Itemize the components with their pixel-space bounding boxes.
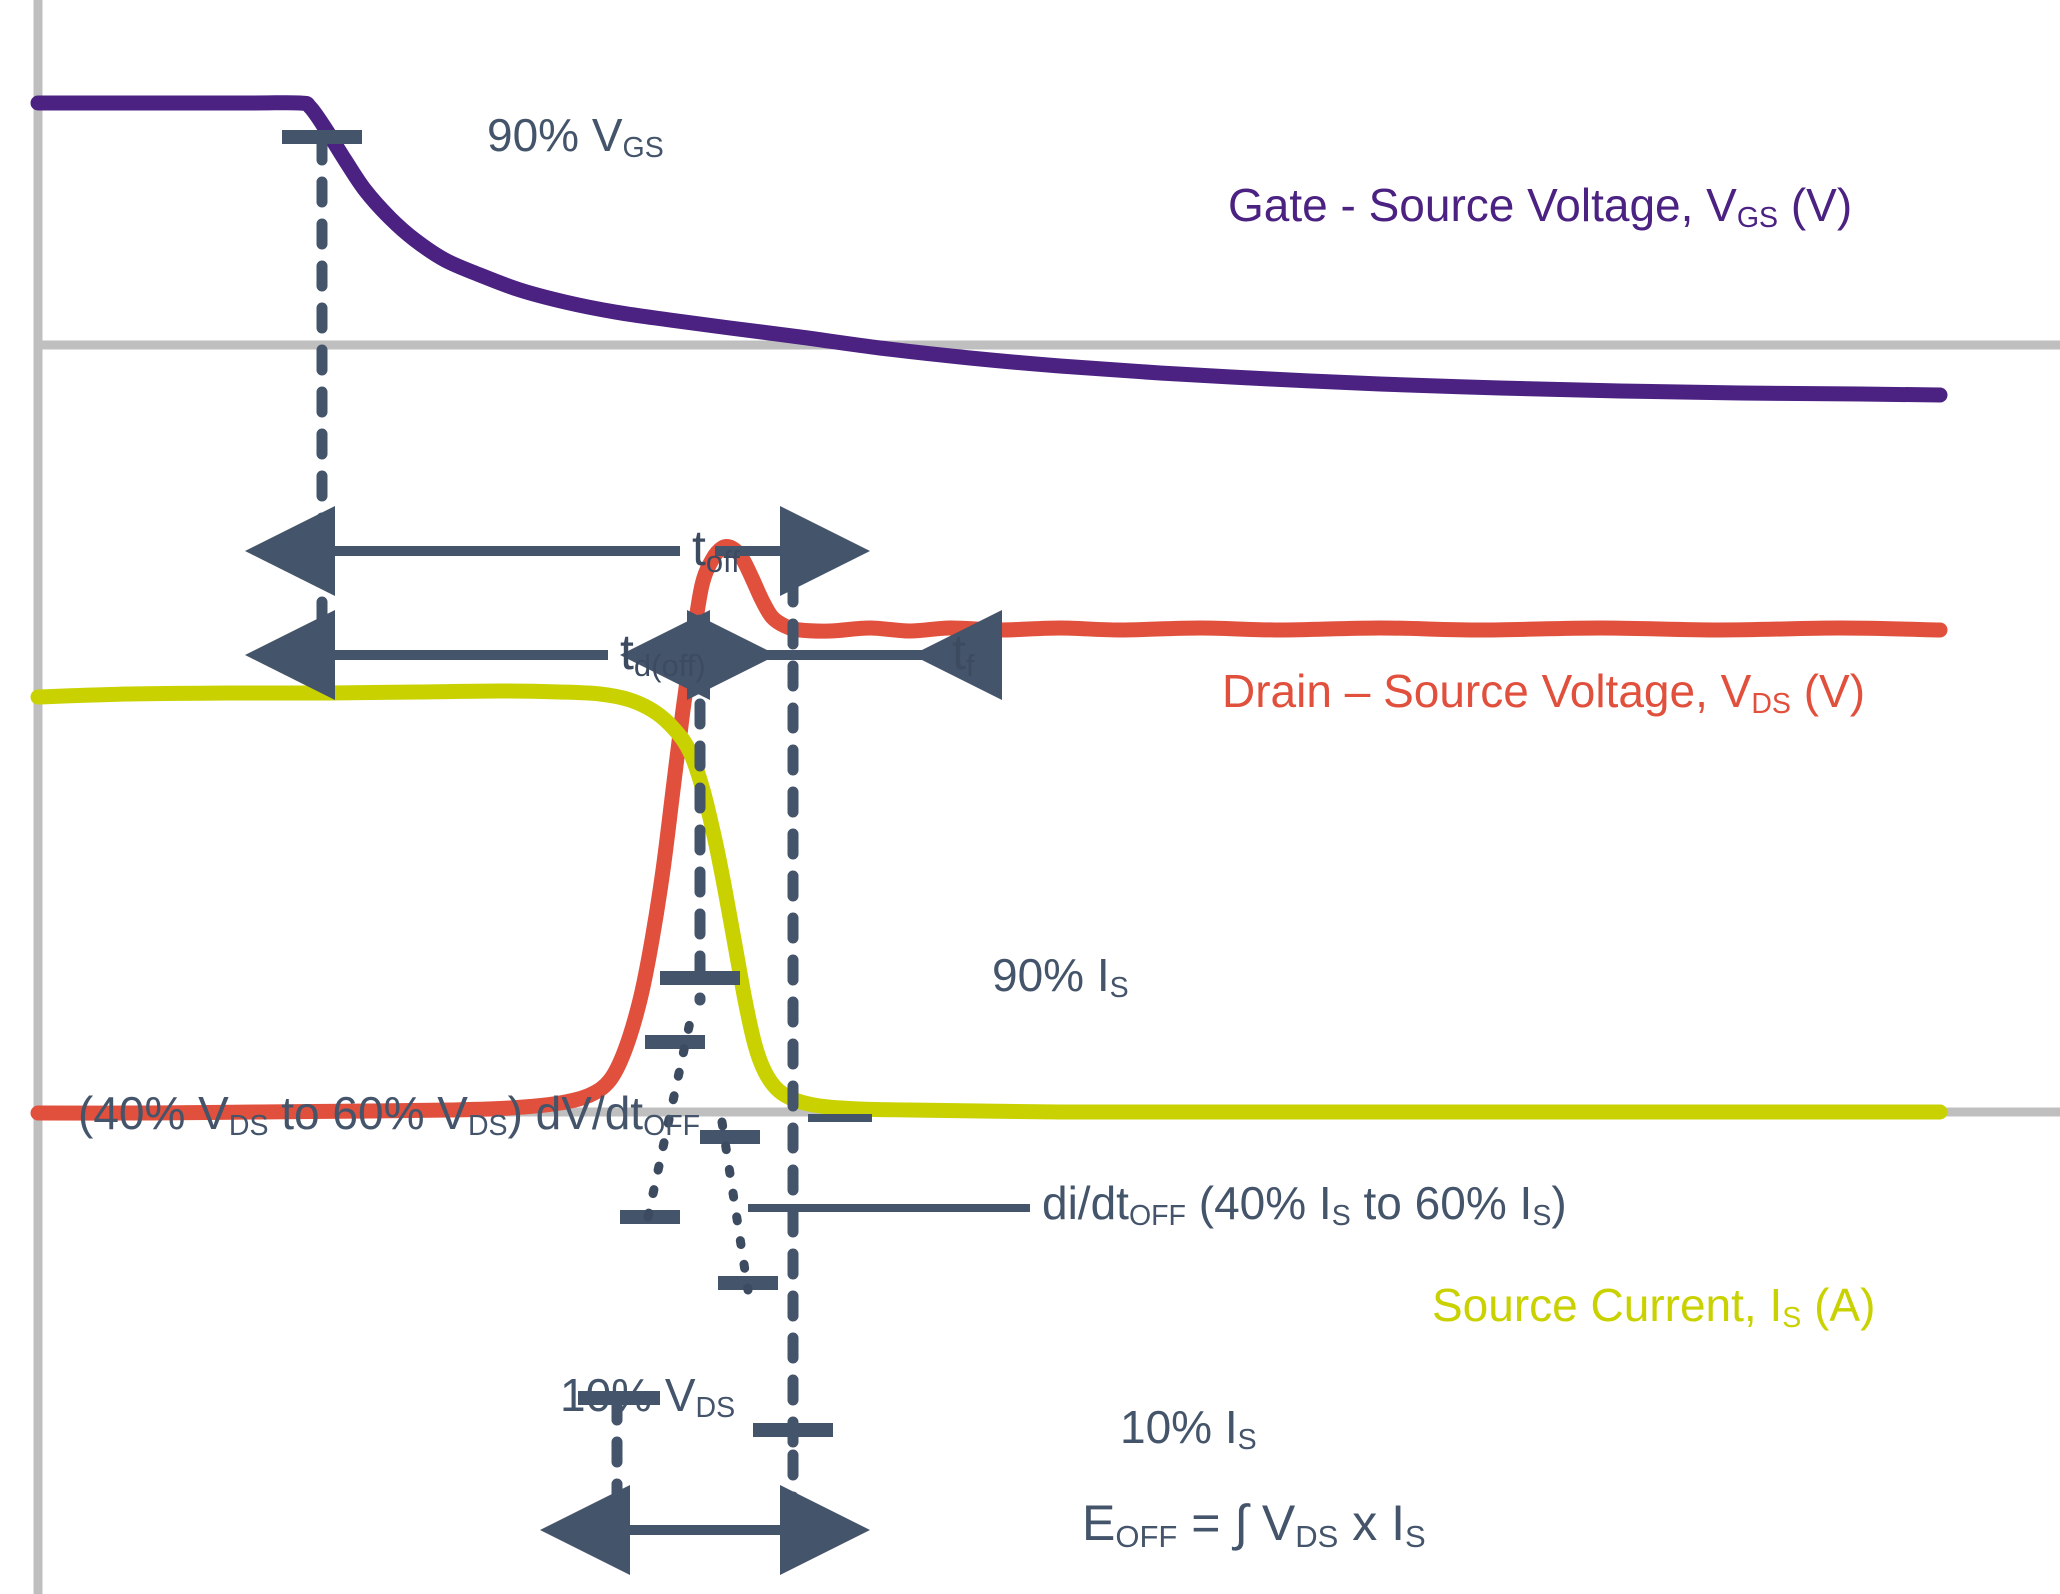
didt-p1: di/dt — [1042, 1177, 1129, 1229]
slope-indicators — [648, 1022, 748, 1290]
legend-is-sub: S — [1782, 1302, 1801, 1334]
waveform-plot — [0, 0, 2060, 1594]
label-t-off-sub: off — [706, 544, 740, 579]
eoff-s2: DS — [1295, 1519, 1338, 1554]
didt-s2: S — [1332, 1200, 1351, 1232]
eoff-p3: x I — [1338, 1495, 1405, 1551]
legend-vds-text: Drain – Source Voltage, V — [1222, 665, 1751, 717]
label-didt-off: di/dtOFF (40% IS to 60% IS) — [1042, 1180, 1567, 1226]
dvdt-p1: (40% V — [78, 1087, 229, 1139]
legend-vds-sub: DS — [1751, 688, 1791, 720]
eoff-s1: OFF — [1115, 1519, 1177, 1554]
label-eoff-formula: EOFF = ∫ VDS x IS — [1082, 1498, 1426, 1548]
eoff-s3: S — [1405, 1519, 1426, 1554]
legend-is-text: Source Current, I — [1432, 1279, 1782, 1331]
legend-vgs: Gate - Source Voltage, VGS (V) — [1228, 182, 1852, 228]
label-dvdt-off: (40% VDS to 60% VDS) dV/dtOFF — [78, 1090, 700, 1136]
didt-p3: to 60% I — [1351, 1177, 1533, 1229]
legend-is: Source Current, IS (A) — [1432, 1282, 1875, 1328]
label-10-vds-sub: DS — [696, 1392, 736, 1424]
slope-didt — [722, 1122, 748, 1290]
label-10-is-sub: S — [1238, 1424, 1257, 1456]
label-t-f: tf — [952, 627, 975, 677]
label-t-f-pre: t — [952, 624, 966, 680]
eoff-p2: = ∫ V — [1177, 1495, 1295, 1551]
didt-s1: OFF — [1129, 1200, 1186, 1232]
label-t-off-pre: t — [692, 520, 706, 576]
label-t-f-sub: f — [966, 648, 975, 683]
didt-p2: (40% I — [1186, 1177, 1332, 1229]
legend-vgs-text: Gate - Source Voltage, V — [1228, 179, 1737, 231]
label-90-is-sub: S — [1110, 972, 1129, 1004]
legend-vgs-sub: GS — [1737, 202, 1778, 234]
label-t-d-off-pre: t — [620, 624, 634, 680]
label-10-percent-is: 10% IS — [1120, 1404, 1257, 1450]
waveform-curve-1 — [38, 547, 1940, 1113]
dvdt-s2: DS — [468, 1110, 508, 1142]
label-90-percent-is: 90% IS — [992, 952, 1129, 998]
label-t-d-off-sub: d(off) — [634, 648, 706, 683]
dvdt-p2: to 60% V — [268, 1087, 467, 1139]
label-90-is-pre: 90% I — [992, 949, 1110, 1001]
legend-vds: Drain – Source Voltage, VDS (V) — [1222, 668, 1865, 714]
eoff-p1: E — [1082, 1495, 1115, 1551]
label-10-percent-vds: 10% VDS — [560, 1372, 735, 1418]
label-90-vgs-sub: GS — [623, 132, 664, 164]
label-t-off: toff — [692, 523, 740, 573]
switching-waveform-figure: Gate - Source Voltage, VGS (V) Drain – S… — [0, 0, 2060, 1594]
didt-p4: ) — [1551, 1177, 1566, 1229]
waveform-curve-2 — [38, 691, 1940, 1112]
label-90-vgs-pre: 90% V — [487, 109, 623, 161]
didt-s3: S — [1532, 1200, 1551, 1232]
dvdt-p3: ) dV/dt — [508, 1087, 644, 1139]
dvdt-s1: DS — [229, 1110, 269, 1142]
label-90-percent-vgs: 90% VGS — [487, 112, 664, 158]
label-10-vds-pre: 10% V — [560, 1369, 696, 1421]
legend-is-unit: (A) — [1801, 1279, 1875, 1331]
dvdt-s3: OFF — [643, 1110, 700, 1142]
label-10-is-pre: 10% I — [1120, 1401, 1238, 1453]
legend-vgs-unit: (V) — [1778, 179, 1852, 231]
legend-vds-unit: (V) — [1791, 665, 1865, 717]
label-t-d-off: td(off) — [620, 627, 706, 677]
